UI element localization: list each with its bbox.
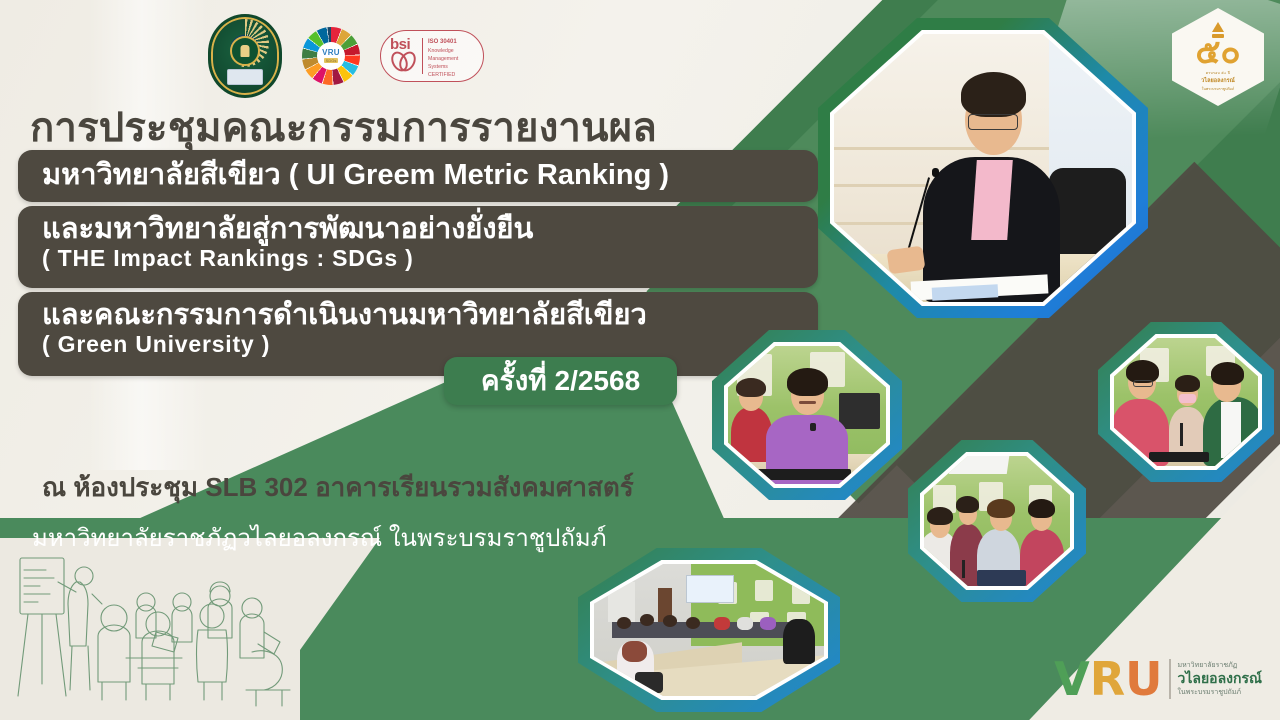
- bsi-heart-icon: [392, 51, 414, 75]
- title-band-1-thai: มหาวิทยาลัยสีเขียว ( UI Greem Metric Ran…: [18, 160, 669, 191]
- vru-letter-v: V: [1054, 656, 1089, 702]
- bsi-certification-icon: bsi ISO 30401 Knowledge Management Syste…: [380, 30, 484, 82]
- title-band-2-eng: ( THE Impact Rankings : SDGs ): [18, 245, 818, 271]
- session-badge: ครั้งที่ 2/2568: [444, 357, 677, 405]
- anniversary-line2: วไลยอลงกรณ์: [1201, 77, 1235, 85]
- poster-root: VRU SDGs bsi ISO 30401 Knowledge Managem…: [0, 0, 1280, 720]
- logo-row: VRU SDGs bsi ISO 30401 Knowledge Managem…: [208, 14, 484, 98]
- vru-thai-line2: วไลยอลงกรณ์: [1178, 671, 1263, 686]
- bsi-line2: Knowledge: [428, 48, 454, 54]
- bsi-line3: Management: [428, 56, 458, 62]
- vru-letter-r: R: [1090, 656, 1124, 702]
- bsi-wordmark: bsi: [390, 37, 410, 52]
- title-band-3: และคณะกรรมการดำเนินงานมหาวิทยาลัยสีเขียว…: [18, 292, 818, 376]
- photo-chairman: [818, 18, 1148, 318]
- venue-text: ณ ห้องประชุม SLB 302 อาคารเรียนรวมสังคมศ…: [42, 467, 634, 508]
- sdg-wheel-icon: VRU SDGs: [302, 27, 360, 85]
- photo-meeting-room: [578, 548, 840, 712]
- anniversary-line3: ในพระบรมราชูปถัมภ์: [1202, 86, 1235, 92]
- title-band-3-eng: ( Green University ): [18, 331, 818, 357]
- crown-icon: [1212, 22, 1225, 38]
- title-band-1: มหาวิทยาลัยสีเขียว ( UI Greem Metric Ran…: [18, 150, 818, 202]
- photo-participant-purple: [712, 330, 902, 500]
- bsi-standard: ISO 30401: [428, 39, 457, 45]
- sdg-center-sub: SDGs: [324, 58, 339, 63]
- anniversary-number: ๕๐: [1195, 37, 1240, 67]
- vru-thai-line3: ในพระบรมราชูปถัมภ์: [1178, 687, 1263, 698]
- meeting-sketch-illustration: [6, 546, 306, 716]
- anniversary-line1: ครบรอบ ๕๐ ปี: [1206, 70, 1230, 76]
- title-band-2-thai: และมหาวิทยาลัยสู่การพัฒนาอย่างยั่งยืน: [18, 206, 818, 245]
- title-band-3-thai: และคณะกรรมการดำเนินงานมหาวิทยาลัยสีเขียว: [18, 292, 818, 331]
- title-band-2: และมหาวิทยาลัยสู่การพัฒนาอย่างยั่งยืน ( …: [18, 206, 818, 288]
- bsi-line5: CERTIFIED: [428, 72, 455, 78]
- vru-logo: V R U มหาวิทยาลัยราชภัฏ วไลยอลงกรณ์ ในพร…: [1054, 656, 1262, 702]
- vru-divider: [1169, 659, 1171, 699]
- photo-participants-right: [1098, 322, 1274, 482]
- vru-letter-u: U: [1125, 656, 1161, 702]
- bsi-line4: Systems: [428, 64, 448, 70]
- sdg-center-label: VRU: [322, 49, 340, 57]
- university-seal-icon: [208, 14, 282, 98]
- photo-audience: [908, 440, 1086, 602]
